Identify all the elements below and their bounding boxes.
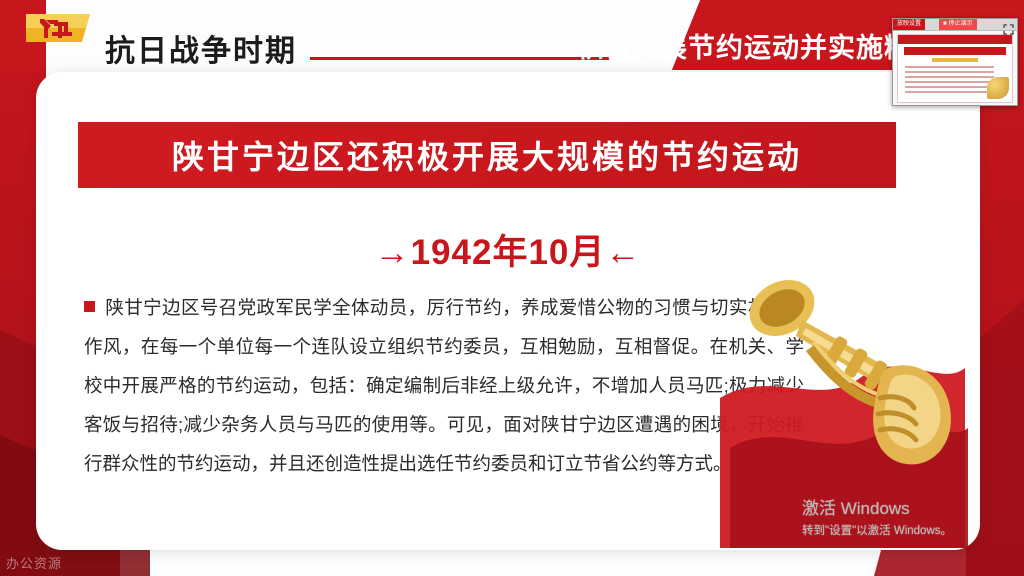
preview-slide-lines: [905, 66, 994, 96]
content-title-bar: 陕甘宁边区还积极开展大规模的节约运动: [78, 122, 896, 188]
watermark-line-2: 转到"设置"以激活 Windows。: [802, 522, 952, 538]
corner-logo: 办公资源: [6, 553, 62, 572]
presentation-preview-window[interactable]: 放映设置 ■ 停止演示: [892, 18, 1018, 106]
presentation-slide: 抗日战争时期 积极开展节约运动并实施精兵简政 陕甘宁边区还积极开展大规模的节约运…: [0, 0, 1024, 576]
preview-top-band: [898, 35, 1012, 44]
windows-activation-watermark: 激活 Windows 转到"设置"以激活 Windows。: [802, 494, 952, 538]
page-title: 抗日战争时期: [105, 26, 297, 70]
stop-presentation-button[interactable]: ■ 停止演示: [939, 19, 977, 30]
watermark-line-1: 激活 Windows: [802, 494, 952, 519]
show-settings-label: 放映设置: [897, 19, 921, 30]
content-title: 陕甘宁边区还积极开展大规模的节约运动: [172, 132, 802, 178]
content-card: 陕甘宁边区还积极开展大规模的节约运动 →1942年10月← 陕甘宁边区号召党政军…: [36, 72, 980, 550]
preview-window-titlebar[interactable]: 放映设置 ■ 停止演示: [893, 19, 1017, 31]
preview-trumpet-icon: [987, 77, 1009, 99]
title-underline: [310, 57, 610, 60]
body-text: 陕甘宁边区号召党政军民学全体动员，厉行节约，养成爱惜公物的习惯与切实朴素的作风，…: [84, 297, 804, 474]
stop-presentation-label: 停止演示: [949, 19, 973, 30]
preview-window-body[interactable]: [893, 31, 1017, 106]
show-settings-button[interactable]: 放映设置: [893, 19, 925, 30]
resize-handle-icon[interactable]: [1003, 22, 1014, 33]
body-paragraph: 陕甘宁边区号召党政军民学全体动员，厉行节约，养成爱惜公物的习惯与切实朴素的作风，…: [84, 288, 804, 483]
bullet-square-icon: [84, 301, 95, 312]
ccp-party-emblem-icon: [24, 10, 98, 66]
preview-slide-thumbnail: [897, 34, 1013, 103]
preview-slide-date: [932, 58, 978, 62]
date-label: →1942年10月←: [375, 233, 642, 272]
stop-icon: ■: [943, 19, 947, 30]
preview-slide-title: [904, 47, 1006, 55]
